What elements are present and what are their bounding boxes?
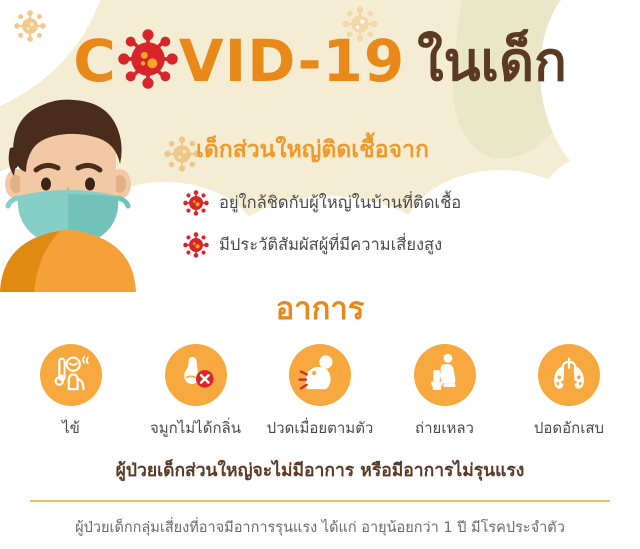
symptom-circle	[289, 344, 351, 406]
symptom-circle	[414, 344, 476, 406]
transmission-bullet-list: อยู่ใกล้ชิดกับผู้ใหญ่ในบ้านที่ติดเชื้อ	[183, 186, 613, 270]
page-header: C	[0, 18, 640, 98]
virus-bullet-icon	[183, 232, 209, 258]
covid-children-infographic: C	[0, 0, 640, 549]
list-item: มีประวัติสัมผัสผู้ที่มีความเสี่ยงสูง	[183, 228, 613, 262]
nose-no-smell-icon	[174, 351, 218, 399]
symptom-item-pneumonia: ปอดอักเสบ	[510, 344, 628, 440]
symptom-circle	[40, 344, 102, 406]
boy-wearing-mask-illustration	[0, 92, 154, 292]
symptom-label: จมูกไม่ได้กลิ่น	[137, 416, 255, 440]
symptom-circle	[538, 344, 600, 406]
body-ache-icon	[298, 351, 342, 399]
footer-divider	[30, 500, 610, 502]
list-item-label: มีประวัติสัมผัสผู้ที่มีความเสี่ยงสูง	[219, 232, 442, 258]
symptom-circle	[165, 344, 227, 406]
virus-icon	[117, 28, 179, 90]
lungs-pneumonia-icon	[548, 352, 590, 398]
diarrhea-toilet-icon	[423, 351, 467, 399]
symptom-label: ปอดอักเสบ	[510, 416, 628, 440]
symptom-label: ถ่ายเหลว	[386, 416, 504, 440]
virus-bullet-icon	[183, 190, 209, 216]
list-item-label: อยู่ใกล้ชิดกับผู้ใหญ่ในบ้านที่ติดเชื้อ	[219, 190, 461, 216]
title-in-children: ในเด็ก	[417, 30, 567, 93]
symptom-label: ปวดเมื่อยตามตัว	[261, 416, 379, 440]
symptoms-heading: อาการ	[0, 283, 640, 333]
footer-sub-note: ผู้ป่วยเด็กกลุ่มเสี่ยงที่อาจมีอาการรุนแร…	[0, 516, 640, 539]
title-covid-suffix: VID-19	[179, 27, 405, 95]
title-covid-prefix: C	[73, 27, 117, 95]
symptom-item-fever: ไข้	[12, 344, 130, 440]
symptom-item-diarrhea: ถ่ายเหลว	[386, 344, 504, 440]
symptom-item-loss-of-smell: จมูกไม่ได้กลิ่น	[137, 344, 255, 440]
transmission-heading: เด็กส่วนใหญ่ติดเชื้อจาก	[196, 132, 429, 168]
footer-note: ผู้ป่วยเด็กส่วนใหญ่จะไม่มีอาการ หรือมีอา…	[0, 456, 640, 484]
list-item: อยู่ใกล้ชิดกับผู้ใหญ่ในบ้านที่ติดเชื้อ	[183, 186, 613, 220]
fever-thermometer-icon	[49, 351, 93, 399]
symptom-item-body-ache: ปวดเมื่อยตามตัว	[261, 344, 379, 440]
symptom-label: ไข้	[12, 416, 130, 440]
symptoms-icon-row: ไข้ จมูกไม่ได้กลิ่น	[12, 344, 628, 440]
